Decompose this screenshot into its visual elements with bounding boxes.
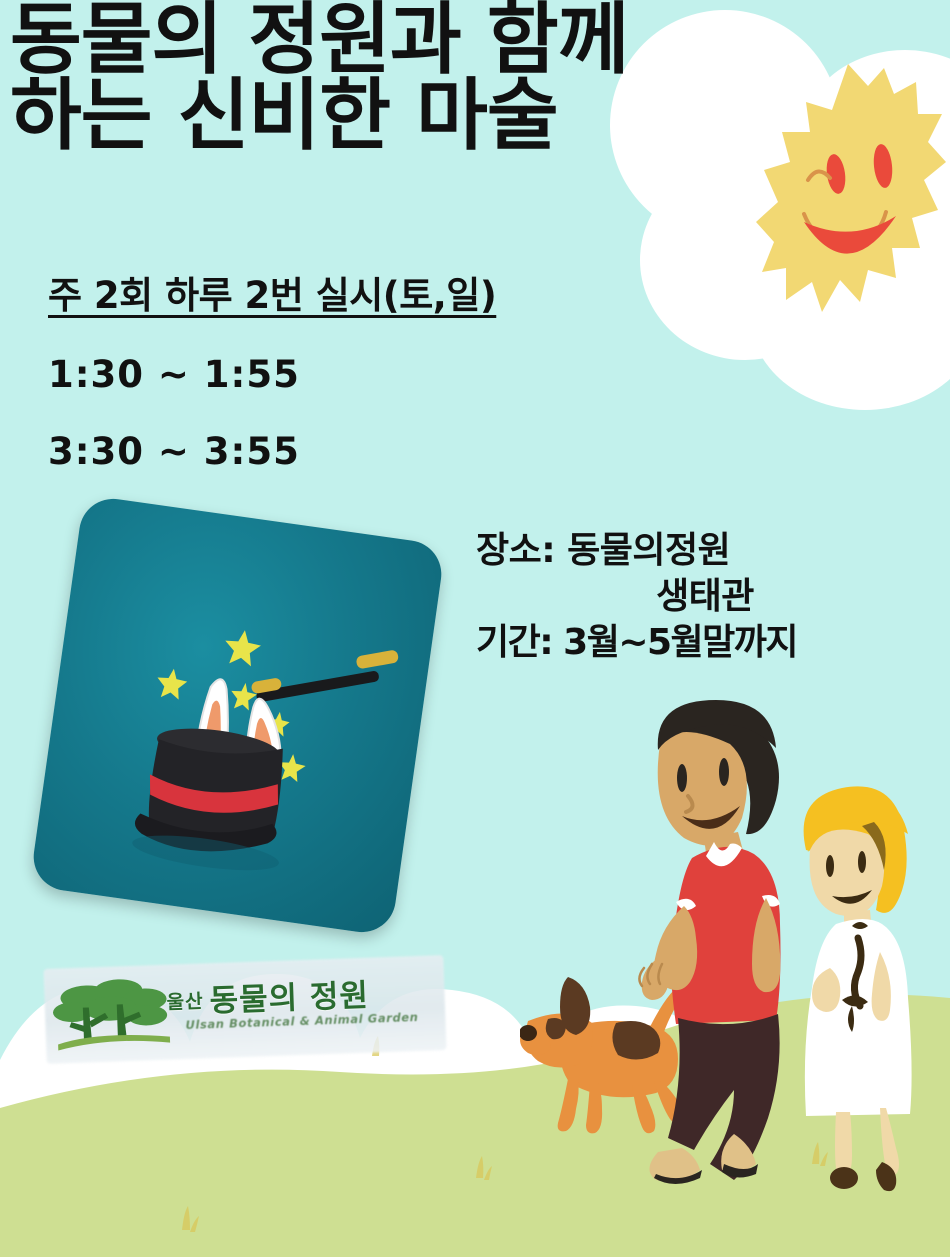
poster-canvas: 동물의 정원과 함께 하는 신비한 마술 주 2회 하루 2번 실시(토,일) … bbox=[0, 0, 950, 1257]
garden-logo: 울산동물의 정원 Ulsan Botanical & Animal Garden bbox=[43, 955, 446, 1064]
girl-figure bbox=[804, 786, 912, 1191]
schedule-time-1: 1:30 ~ 1:55 bbox=[48, 353, 496, 396]
place-line-1: 장소: 동물의정원 bbox=[470, 528, 940, 574]
info-block: 장소: 동물의정원 생태관 기간: 3월~5월말까지 bbox=[470, 528, 940, 666]
poster-title: 동물의 정원과 함께 하는 신비한 마술 bbox=[10, 2, 940, 155]
magic-hat-card bbox=[29, 495, 445, 937]
people-illustration bbox=[630, 700, 950, 1200]
logo-prefix: 울산 bbox=[166, 990, 204, 1013]
man-figure bbox=[639, 700, 780, 1184]
schedule-time-2: 3:30 ~ 3:55 bbox=[48, 430, 496, 473]
schedule-heading: 주 2회 하루 2번 실시(토,일) bbox=[48, 265, 496, 319]
schedule-block: 주 2회 하루 2번 실시(토,일) 1:30 ~ 1:55 3:30 ~ 3:… bbox=[48, 265, 496, 473]
period-line: 기간: 3월~5월말까지 bbox=[470, 620, 940, 666]
place-line-2: 생태관 bbox=[470, 574, 940, 620]
tree-icon bbox=[52, 975, 174, 1051]
